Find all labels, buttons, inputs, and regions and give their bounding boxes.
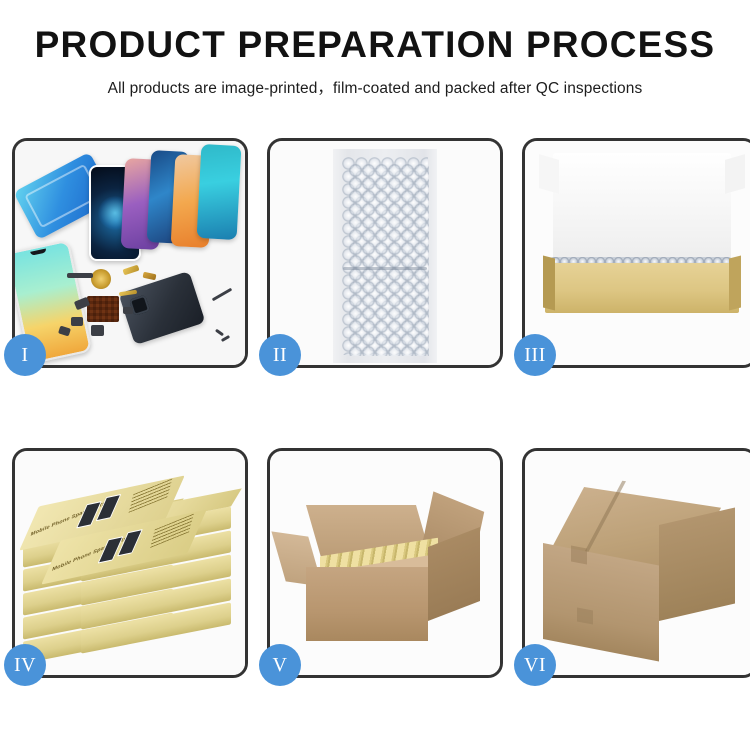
page-subtitle: All products are image-printed，film-coat…: [0, 76, 750, 98]
carton-tab: [571, 545, 587, 564]
step-3-image: [525, 141, 750, 365]
connector-part: [143, 272, 157, 281]
step-badge-5: V: [259, 644, 301, 686]
header: PRODUCT PREPARATION PROCESS All products…: [0, 0, 750, 98]
carton-front-panel: [306, 567, 428, 641]
battery-strip-part: [67, 273, 93, 278]
box-stack: Mobile Phone Spare Parts Mobile Phone Sp…: [19, 477, 245, 667]
step-badge-6: VI: [514, 644, 556, 686]
circuit-board-part: [87, 296, 119, 322]
product-preparation-infographic: PRODUCT PREPARATION PROCESS All products…: [0, 0, 750, 750]
button-part: [71, 317, 83, 326]
step-badge-2: II: [259, 334, 301, 376]
bubble-pattern-offset: [349, 164, 429, 356]
step-6-image: [525, 451, 750, 675]
box-base: [545, 263, 739, 313]
step-5-image: [270, 451, 500, 675]
speaker-part: [91, 325, 104, 336]
step-badge-4: IV: [4, 644, 46, 686]
step-2-image: [270, 141, 500, 365]
step-panel-3: III: [522, 138, 750, 368]
carton-side-panel: [659, 507, 735, 621]
step-1-image: [15, 141, 245, 365]
page-title: PRODUCT PREPARATION PROCESS: [0, 26, 750, 65]
carton-tab: [577, 607, 593, 624]
step-badge-3: III: [514, 334, 556, 376]
step-badge-1: I: [4, 334, 46, 376]
steps-grid: I II III: [12, 138, 738, 678]
step-panel-4: Mobile Phone Spare Parts Mobile Phone Sp…: [12, 448, 248, 678]
step-panel-1: I: [12, 138, 248, 368]
step-panel-2: II: [267, 138, 503, 368]
flex-cable-part: [122, 265, 139, 276]
box-spec-lines: [129, 479, 173, 513]
step-panel-5: V: [267, 448, 503, 678]
tweezers-tool: [212, 288, 233, 302]
step-panel-6: VI: [522, 448, 750, 678]
phone-screen-teal: [197, 144, 242, 240]
phone-notch: [30, 248, 46, 255]
box-lid: [553, 153, 731, 271]
screw-part: [215, 329, 224, 337]
speaker-coil-part: [91, 269, 111, 289]
bubble-wrap-sheet: [333, 149, 437, 363]
sim-tray-part: [123, 307, 133, 314]
step-4-image: Mobile Phone Spare Parts Mobile Phone Sp…: [15, 451, 245, 675]
wrap-fold-line: [343, 267, 427, 270]
